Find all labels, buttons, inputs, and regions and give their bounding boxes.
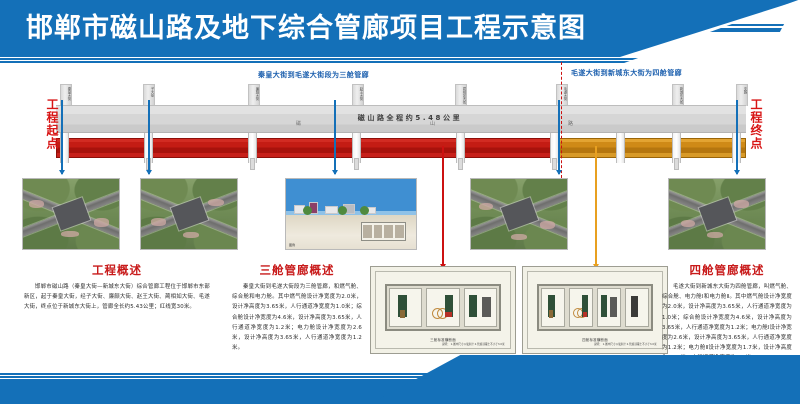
intersection-core [500,198,537,231]
chamber-gas [389,288,422,327]
footer-blue-wedge [370,355,800,404]
photo-detail [479,203,493,211]
cross-street-linxiangru: 蔺相如大街 [455,84,467,106]
section-render-image: 图例 [286,179,416,249]
photo-detail [540,221,554,229]
pipe-bundle [469,295,477,317]
corridor-access-shaft [552,158,557,170]
drawing-note: 说明： 1.图中尺寸以毫米计 2.管廊顶覆土不小于3.0米 [442,343,505,346]
chamber-integrated [426,288,459,327]
corridor-segment-four-chamber [554,138,746,158]
cross-street-zhaowang: 赵王大街 [352,84,364,106]
leader-line-photo-4 [558,100,560,174]
photo-detail [151,218,166,226]
cross-street-label: 廉颇大街 [249,87,259,101]
tunnel-outline [537,284,652,331]
chamber-gas [541,288,565,327]
block-three-chamber: 三舱管廊概述 秦皇大街到毛遂大街段为三舱管廊，和燃气舱、综合舱和电力舱。其中燃气… [232,262,362,353]
segment-caption-three-chamber: 秦皇大街到毛遂大街段为三舱管廊 [258,70,369,80]
road-length-label: 磁山路全程约5.48公里 [300,113,520,123]
header-divider-rule [0,58,800,63]
cable-rack [631,296,638,317]
aerial-photo-image [471,179,567,249]
overview-body: 邯郸市磁山路（秦皇大街—新城东大街）综合管廊工程位于邯郸市东部新区，起于秦皇大街… [24,282,210,313]
block-project-overview: 工程概述 邯郸市磁山路（秦皇大街—新城东大街）综合管廊工程位于邯郸市东部新区，起… [24,262,210,313]
corridor-access-shaft [458,158,463,170]
pipe-bundle [583,312,587,317]
aerial-photo-image [141,179,237,249]
photo-intersection-zi[interactable] [140,178,238,250]
photo-intersection-qinhuang[interactable] [22,178,120,250]
photo-detail [707,232,722,238]
pipe-bundle [601,295,607,317]
leader-line-photo-5 [736,100,738,174]
photo-legend: 图例 [289,243,295,247]
tunnel-outline [385,284,500,331]
chamber-integrated [569,288,593,327]
corridor-chamber [374,225,383,237]
cable-rack [482,297,491,317]
photo-intersection-xinchengdong[interactable] [668,178,766,250]
corridor-joint [616,133,625,163]
segment-boundary-dashed-line [561,62,562,178]
photo-detail [511,234,526,240]
block-four-chamber: 四舱管廊概述 毛遂大街到新城东大街为四舱管廊，叫燃气舱、综合舱、电力舱Ⅰ和电力舱… [662,262,792,364]
intersection-core [698,198,735,231]
photo-detail [208,199,223,207]
corridor-chamber [395,225,404,237]
pipe-bundle [400,310,406,318]
corridor-chamber [363,225,372,237]
corridor-access-shaft [674,158,679,170]
corridor-segment-three-chamber [56,138,554,158]
photo-detail [183,232,198,238]
leader-line-photo-1 [61,100,63,174]
poster-board: 邯郸市磁山路及地下综合管廊项目工程示意图 秦皇大街到毛遂大街段为三舱管廊 毛遂大… [0,0,800,404]
road-mark-ci: 磁 [296,120,302,127]
cross-street-label: 支路 [737,87,747,94]
cross-street-label: 新城东大街 [673,87,683,104]
chamber-power [464,288,497,327]
page-title: 邯郸市磁山路及地下综合管廊项目工程示意图 [26,13,586,45]
photo-detail [681,220,695,228]
cross-street-label: 子大街 [144,87,154,97]
intersection-core [52,198,89,231]
photo-detail [61,231,78,237]
leader-line-drawing-four-chamber [595,146,597,268]
corridor-chamber [384,225,393,237]
overview-title: 工程概述 [24,262,210,278]
leader-line-photo-3 [334,100,336,174]
drawing-three-chamber-section[interactable]: 三舱标准横断面 说明： 1.图中尺寸以毫米计 2.管廊顶覆土不小于3.0米 [370,266,516,354]
project-end-label: 工程终点 [748,98,762,150]
drawing-frame: 四舱标准横断面 说明： 1.图中尺寸以毫米计 2.管廊顶覆土不小于3.0米 [527,271,663,349]
four-chamber-body: 毛遂大街到新城东大街为四舱管廊，叫燃气舱、综合舱、电力舱Ⅰ和电力舱Ⅱ。其中燃气舱… [662,282,792,364]
corridor-access-shaft [354,158,359,170]
drawing-four-chamber-section[interactable]: 四舱标准横断面 说明： 1.图中尺寸以毫米计 2.管廊顶覆土不小于3.0米 [522,266,668,354]
buried-corridor-box [361,222,405,240]
route-schematic: 秦皇大街 子大街 廉颇大街 赵王大街 蔺相如大街 毛遂大街 新城东大街 支路 磁… [0,84,800,176]
pipe-bundle [445,312,451,317]
building-silhouette [325,206,338,214]
segment-caption-four-chamber: 毛遂大街到新城东大街为四舱管廊 [571,68,682,78]
tree-icon [360,206,369,215]
pipe-bundle [549,310,553,318]
cable-rack [610,297,617,317]
drawing-frame: 三舱标准横断面 说明： 1.图中尺寸以毫米计 2.管廊顶覆土不小于3.0米 [375,271,511,349]
cross-street-label: 赵王大街 [353,87,363,101]
photo-detail [29,200,44,208]
corridor-access-shaft [250,158,255,170]
four-chamber-title: 四舱管廊概述 [662,262,792,278]
tree-icon [338,206,347,215]
three-chamber-body: 秦皇大街到毛遂大街段为三舱管廊，和燃气舱、综合舱和电力舱。其中燃气舱设计净宽度为… [232,282,362,353]
road-mark-lu: 路 [568,120,574,127]
drawing-caption: 四舱标准横断面 [528,337,662,342]
intersection-core [170,198,207,231]
chamber-power-1 [597,288,621,327]
chamber-power-2 [625,288,649,327]
three-chamber-title: 三舱管廊概述 [232,262,362,278]
drawing-note: 说明： 1.图中尺寸以毫米计 2.管廊顶覆土不小于3.0米 [594,343,657,346]
cross-street-label: 秦皇大街 [61,87,71,101]
project-start-label: 工程起点 [44,98,58,150]
photo-intersection-maosui[interactable] [470,178,568,250]
tree-icon [303,206,312,215]
cross-street-label: 毛遂大街 [557,87,567,101]
leader-line-photo-2 [148,100,150,174]
photo-corridor-section-render[interactable]: 图例 [285,178,417,250]
drawing-caption: 三舱标准横断面 [376,337,510,342]
cross-street-xinchengdong: 新城东大街 [672,84,684,106]
aerial-photo-image [23,179,119,249]
photo-detail [734,200,748,208]
road-mark-shan: 山 [430,120,436,127]
aerial-photo-image [669,179,765,249]
cross-street-lianpo: 廉颇大街 [248,84,260,106]
cross-street-label: 蔺相如大街 [456,87,466,104]
leader-line-drawing-three-chamber [442,146,444,268]
photo-detail [94,218,109,226]
